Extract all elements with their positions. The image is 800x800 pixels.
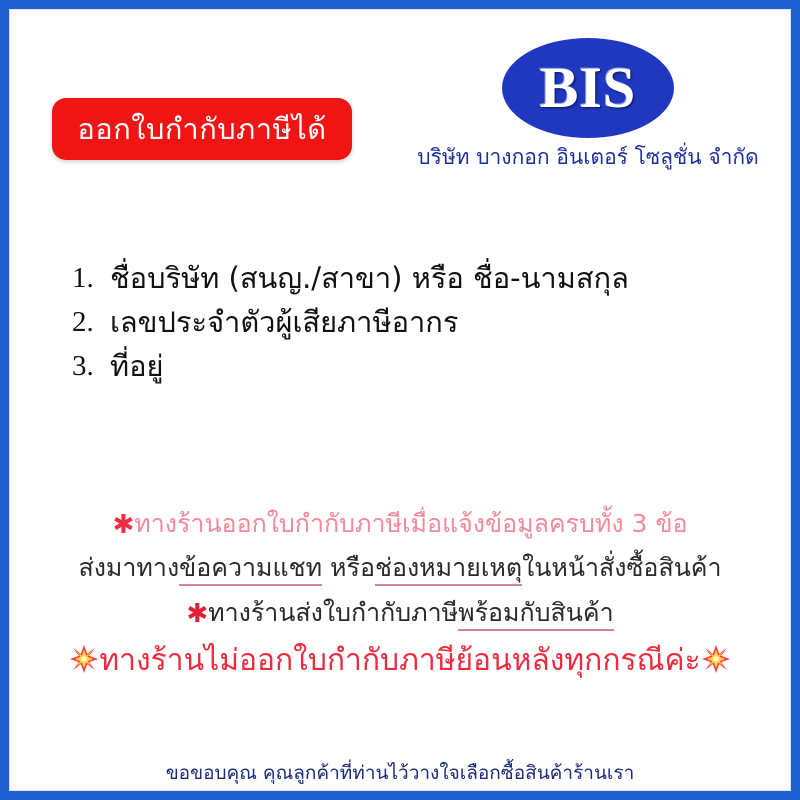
sparkle-icon [701,644,731,674]
list-item: 3. ที่อยู่ [72,344,752,388]
note-line-2-part3: ในหน้าสั่งซื้อสินค้า [522,553,721,582]
tax-invoice-badge: ออกใบกำกับภาษีได้ [52,98,352,160]
bis-logo-text: BIS [540,59,637,117]
note-line-2-underline-remark: ช่องหมายเหตุ [375,553,522,586]
list-item-number: 1. [72,256,110,300]
company-logo-block: BIS บริษัท บางกอก อินเตอร์ โซลูชั่น จำกั… [408,38,768,169]
note-line-1-text: ทางร้านออกใบกำกับภาษีเมื่อแจ้งข้อมูลครบท… [134,509,687,538]
list-item: 2. เลขประจำตัวผู้เสียภาษีอากร [72,300,752,344]
poster-frame: ออกใบกำกับภาษีได้ BIS บริษัท บางกอก อินเ… [0,0,800,800]
poster-canvas: ออกใบกำกับภาษีได้ BIS บริษัท บางกอก อินเ… [9,9,791,791]
list-item-label: ที่อยู่ [110,344,164,388]
logo-mark-wrapper: BIS [408,38,768,142]
asterisk-icon: ✱ [112,510,134,540]
notes-block: ✱ทางร้านออกใบกำกับภาษีเมื่อแจ้งข้อมูลครบ… [10,502,790,690]
list-item: 1. ชื่อบริษัท (สนญ./สาขา) หรือ ชื่อ-นามส… [72,256,752,300]
sparkle-icon [69,644,99,674]
thank-you-text: ขอขอบคุณ คุณลูกค้าที่ท่านไว้วางใจเลือกซื… [10,758,790,788]
bis-logo-ellipse: BIS [502,38,674,138]
list-item-label: เลขประจำตัวผู้เสียภาษีอากร [110,300,458,344]
tax-invoice-badge-label: ออกใบกำกับภาษีได้ [77,115,326,144]
note-line-4-text: ทางร้านไม่ออกใบกำกับภาษีย้อนหลังทุกกรณีค… [99,643,700,678]
note-line-3-part1: ทางร้านส่งใบกำกับภาษี [208,598,458,627]
note-line-2: ส่งมาทางข้อความแชท หรือช่องหมายเหตุในหน้… [10,552,790,597]
company-name-thai: บริษัท บางกอก อินเตอร์ โซลูชั่น จำกัด [408,146,768,169]
asterisk-icon: ✱ [186,599,208,629]
note-line-2-part1: ส่งมาทาง [78,553,179,582]
list-item-number: 3. [72,344,110,388]
list-item-number: 2. [72,300,110,344]
note-line-3-underline-with-goods: พร้อมกับสินค้า [458,598,614,631]
note-line-2-underline-chat: ข้อความแชท [179,553,322,586]
header: ออกใบกำกับภาษีได้ BIS บริษัท บางกอก อินเ… [10,10,790,210]
requirements-list: 1. ชื่อบริษัท (สนญ./สาขา) หรือ ชื่อ-นามส… [72,256,752,388]
note-line-2-part2: หรือ [322,553,375,582]
note-line-1: ✱ทางร้านออกใบกำกับภาษีเมื่อแจ้งข้อมูลครบ… [10,502,790,552]
note-line-4: ทางร้านไม่ออกใบกำกับภาษีย้อนหลังทุกกรณีค… [10,642,790,690]
note-line-3: ✱ทางร้านส่งใบกำกับภาษีพร้อมกับสินค้า [10,597,790,643]
list-item-label: ชื่อบริษัท (สนญ./สาขา) หรือ ชื่อ-นามสกุล [110,256,629,300]
